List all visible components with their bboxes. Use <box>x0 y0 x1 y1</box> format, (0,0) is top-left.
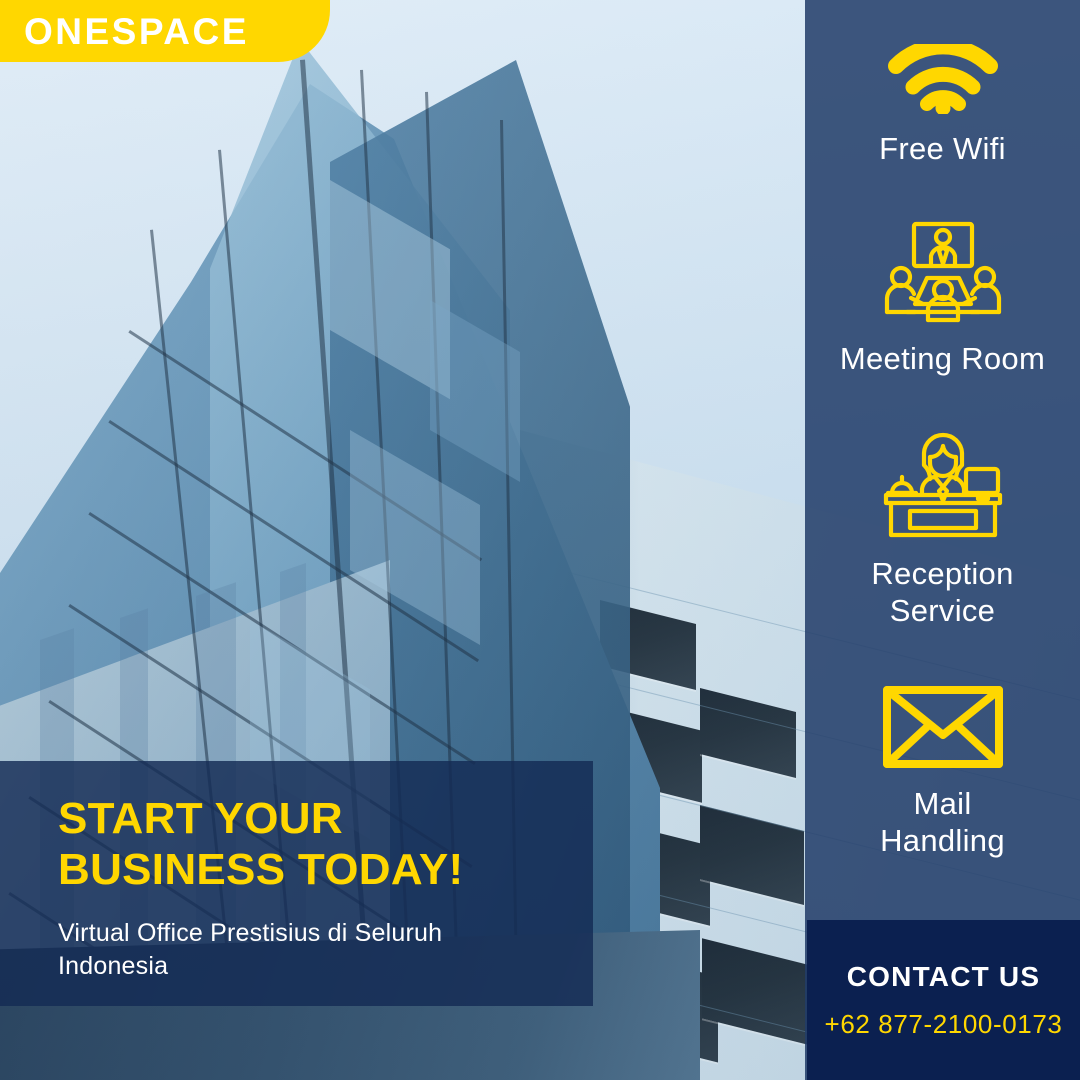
feature-label: Mail Handling <box>872 786 1013 859</box>
feature-item-mail-handling[interactable]: Mail Handling <box>805 685 1080 859</box>
headline-line-2: BUSINESS TODAY! <box>58 845 463 894</box>
feature-label: Reception Service <box>863 556 1021 629</box>
feature-item-meeting-room[interactable]: Meeting Room <box>805 220 1080 378</box>
meeting-room-icon <box>881 220 1005 329</box>
feature-item-reception-service[interactable]: Reception Service <box>805 427 1080 629</box>
reception-desk-icon <box>882 427 1004 544</box>
headline-overlay-panel: START YOURBUSINESS TODAY! Virtual Office… <box>0 761 593 1006</box>
page-subtitle: Virtual Office Prestisius di Seluruh Ind… <box>0 895 593 982</box>
contact-title: CONTACT US <box>847 961 1040 993</box>
poster-canvas: ONESPACE START YOURBUSINESS TODAY! Virtu… <box>0 0 1080 1080</box>
contact-phone-number[interactable]: +62 877-2100-0173 <box>825 1009 1063 1040</box>
logo-badge: ONESPACE <box>0 0 330 62</box>
page-title: START YOURBUSINESS TODAY! <box>0 761 593 895</box>
contact-panel[interactable]: CONTACT US +62 877-2100-0173 <box>807 920 1080 1080</box>
feature-item-free-wifi[interactable]: Free Wifi <box>805 44 1080 168</box>
feature-label: Free Wifi <box>871 131 1014 168</box>
feature-label: Meeting Room <box>832 341 1053 378</box>
wifi-icon <box>888 44 998 119</box>
logo-text: ONESPACE <box>0 13 249 50</box>
envelope-icon <box>882 685 1004 774</box>
headline-line-1: START YOUR <box>58 794 343 843</box>
features-sidebar: Free Wifi <box>805 0 1080 1080</box>
